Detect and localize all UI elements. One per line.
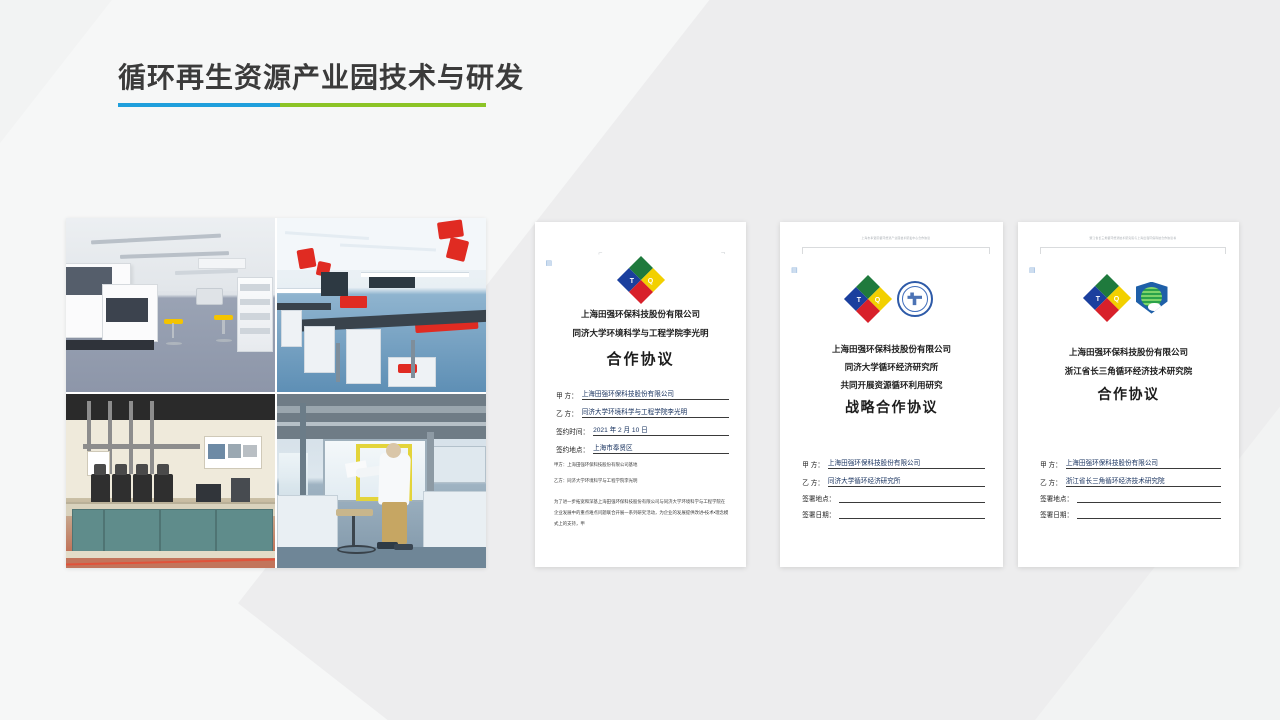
photo-researcher (277, 394, 486, 568)
lab-photo-collage (66, 218, 486, 568)
field-label: 签署日期： (802, 509, 835, 519)
title-underline-green-segment (280, 103, 486, 107)
field-label: 乙 方： (556, 408, 578, 418)
field-row: 甲 方： 上海田强环保科技股份有限公司 (556, 388, 729, 400)
field-value (839, 517, 985, 519)
document-title-block: 上海田强环保科技股份有限公司 浙江省长三角循环经济技术研究院 合作协议 (1033, 346, 1223, 405)
title-underline (118, 103, 486, 107)
word-doc-icon: ▤ (791, 267, 798, 274)
field-value (1077, 501, 1221, 503)
document-logos: TQ (780, 281, 1003, 317)
document-card-strategic-cooperation-agreement-tongji[interactable]: 上海市奉贤区循环经济产业园技术研发中心合作协议 ▤ TQ 上海田强环保科技股份有… (780, 222, 1003, 567)
document-main-title: 合作协议 (1033, 384, 1223, 406)
field-row: 签约时间： 2021 年 2 月 10 日 (556, 424, 729, 436)
document-title-line: 上海田强环保科技股份有限公司 (1033, 346, 1223, 359)
field-label: 签约时间： (556, 426, 589, 436)
word-doc-icon: ▤ (1029, 267, 1036, 274)
document-card-cooperation-agreement-zhejiang[interactable]: 浙江省长三角循环经济技术研究院与上海田强环保科技合作协议书 ▤ TQ 上海田强环… (1018, 222, 1239, 567)
body-paragraph: 为了进一步拓宽和深基上海田强环保科技股份有限公司与同济大学环境科学与工程学院在企… (554, 496, 729, 529)
slide-header: 循环再生资源产业园技术与研发 (118, 60, 524, 107)
document-main-title: 战略合作协议 (796, 397, 988, 419)
document-header-rule (802, 247, 989, 248)
field-row: 签署日期： (1040, 509, 1221, 519)
field-label: 签约地点： (556, 444, 589, 454)
page-corner-mark-left: ⌐ (598, 250, 602, 257)
field-value: 同济大学环境科学与工程学院李光明 (582, 406, 729, 418)
field-label: 签署日期： (1040, 509, 1073, 519)
body-paragraph: 乙方：同济大学环境科学与工程学院李光明 (554, 476, 729, 487)
document-header-rule (1040, 247, 1226, 248)
field-row: 乙 方： 同济大学环境科学与工程学院李光明 (556, 406, 729, 418)
document-title-line: 上海田强环保科技股份有限公司 (796, 343, 988, 356)
document-title-line: 共同开展资源循环利用研究 (796, 379, 988, 392)
document-title-line: 浙江省长三角循环经济技术研究院 (1033, 365, 1223, 378)
field-value: 上海田强环保科技股份有限公司 (828, 457, 985, 469)
document-title-line: 同济大学循环经济研究所 (796, 361, 988, 374)
title-underline-blue-segment (118, 103, 280, 107)
document-logos: TQ (535, 263, 746, 297)
page-title: 循环再生资源产业园技术与研发 (118, 60, 524, 96)
field-row: 甲 方： 上海田强环保科技股份有限公司 (1040, 457, 1221, 469)
field-label: 乙 方： (802, 477, 824, 487)
field-value: 同济大学循环经济研究所 (828, 475, 985, 487)
document-field-list: 甲 方： 上海田强环保科技股份有限公司 乙 方： 浙江省长三角循环经济技术研究院… (1040, 457, 1221, 525)
photo-cleanroom-lab (66, 218, 275, 392)
field-row: 签约地点： 上海市奉贤区 (556, 442, 729, 454)
field-label: 乙 方： (1040, 477, 1062, 487)
field-value: 上海田强环保科技股份有限公司 (582, 388, 729, 400)
field-value: 2021 年 2 月 10 日 (593, 424, 729, 436)
photo-testing-bench (66, 394, 275, 568)
document-field-list: 甲 方： 上海田强环保科技股份有限公司 乙 方： 同济大学循环经济研究所 签署地… (802, 457, 985, 525)
document-title-block: 上海田强环保科技股份有限公司 同济大学环境科学与工程学院李光明 合作协议 (550, 308, 731, 371)
document-title-line: 同济大学环境科学与工程学院李光明 (550, 327, 731, 340)
field-value: 上海市奉贤区 (593, 442, 729, 454)
field-label: 签署地点： (802, 493, 835, 503)
field-row: 签署地点： (1040, 493, 1221, 503)
field-row: 甲 方： 上海田强环保科技股份有限公司 (802, 457, 985, 469)
tianqiang-diamond-logo: TQ (843, 275, 891, 323)
document-running-header: 浙江省长三角循环经济技术研究院与上海田强环保科技合作协议书 (1040, 236, 1226, 240)
page-corner-mark-right: ¬ (721, 250, 725, 257)
field-label: 甲 方： (1040, 459, 1062, 469)
photo-modern-lab (277, 218, 486, 392)
document-running-header: 上海市奉贤区循环经济产业园技术研发中心合作协议 (802, 236, 989, 240)
field-row: 签署日期： (802, 509, 985, 519)
field-value: 上海田强环保科技股份有限公司 (1066, 457, 1222, 469)
field-value (839, 501, 985, 503)
field-row: 签署地点： (802, 493, 985, 503)
field-label: 甲 方： (556, 390, 578, 400)
field-label: 甲 方： (802, 459, 824, 469)
body-paragraph: 甲方：上海田强环保科技股份有限公司基地 (554, 460, 729, 471)
tianqiang-diamond-logo: TQ (1082, 274, 1130, 322)
tianqiang-diamond-logo: TQ (616, 256, 664, 304)
document-card-cooperation-agreement-tongji-li[interactable]: ▤ ⌐ ¬ TQ 上海田强环保科技股份有限公司 同济大学环境科学与工程学院李光明… (535, 222, 746, 567)
field-row: 乙 方： 同济大学循环经济研究所 (802, 475, 985, 487)
document-field-list: 甲 方： 上海田强环保科技股份有限公司 乙 方： 同济大学环境科学与工程学院李光… (556, 388, 729, 460)
field-row: 乙 方： 浙江省长三角循环经济技术研究院 (1040, 475, 1221, 487)
document-logos: TQ (1018, 281, 1239, 315)
yangtze-delta-institute-logo (1136, 282, 1168, 314)
document-body-text: 甲方：上海田强环保科技股份有限公司基地 乙方：同济大学环境科学与工程学院李光明 … (554, 460, 729, 529)
document-main-title: 合作协议 (550, 348, 731, 371)
tongji-university-seal (897, 281, 933, 317)
field-value: 浙江省长三角循环经济技术研究院 (1066, 475, 1222, 487)
field-label: 签署地点： (1040, 493, 1073, 503)
document-title-block: 上海田强环保科技股份有限公司 同济大学循环经济研究所 共同开展资源循环利用研究 … (796, 343, 988, 419)
document-title-line: 上海田强环保科技股份有限公司 (550, 308, 731, 321)
field-value (1077, 517, 1221, 519)
